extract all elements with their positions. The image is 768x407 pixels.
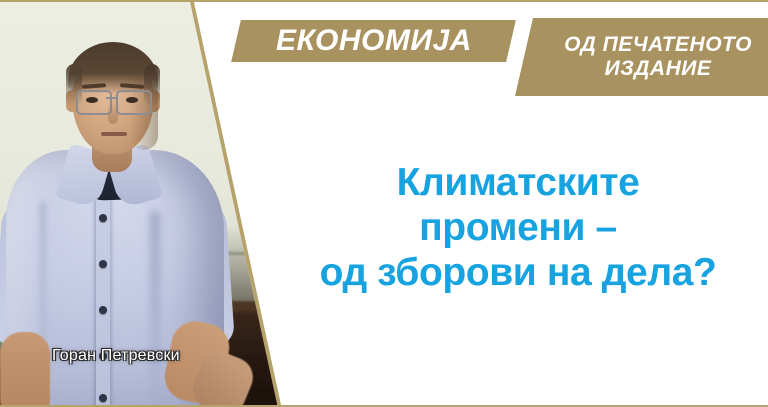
- left-arm: [0, 332, 50, 407]
- headline-line-3: од зборови на дела?: [282, 250, 754, 295]
- shirt-button: [99, 214, 107, 222]
- print-edition-tag[interactable]: ОД ПЕЧАТЕНОТО ИЗДАНИЕ: [515, 18, 768, 96]
- article-banner: Горан Петревски ЕКОНОМИЈА ОД ПЕЧАТЕНОТО …: [0, 0, 768, 407]
- shirt-button: [99, 394, 107, 402]
- print-edition-tag-line-1: ОД ПЕЧАТЕНОТО: [564, 33, 752, 57]
- category-tag-label: ЕКОНОМИЈА: [276, 26, 472, 56]
- shirt-button: [99, 306, 107, 314]
- left-eye: [86, 97, 98, 103]
- category-tag[interactable]: ЕКОНОМИЈА: [231, 20, 516, 62]
- print-edition-tag-stack: ОД ПЕЧАТЕНОТО ИЗДАНИЕ: [564, 33, 752, 80]
- headline-line-1: Климатските: [282, 160, 754, 205]
- photo-caption: Горан Петревски: [52, 347, 180, 365]
- mouth: [101, 132, 127, 136]
- shirt-fold-right: [150, 212, 160, 402]
- nose: [108, 102, 118, 124]
- glasses-bridge: [106, 97, 118, 99]
- headline-line-2: промени –: [282, 205, 754, 250]
- article-headline[interactable]: Климатските промени – од зборови на дела…: [282, 160, 754, 296]
- shirt-button: [99, 260, 107, 268]
- print-edition-tag-line-2: ИЗДАНИЕ: [564, 57, 752, 81]
- right-eye: [126, 97, 138, 103]
